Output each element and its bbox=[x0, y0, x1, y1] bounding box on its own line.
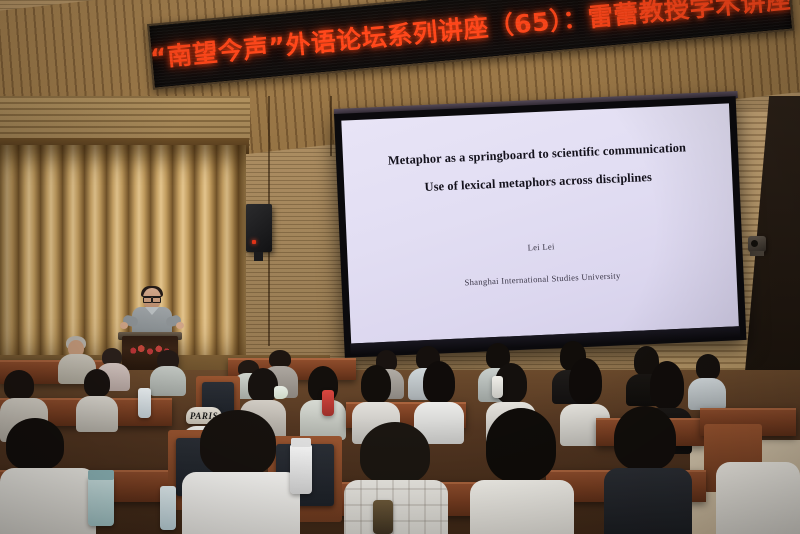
water-bottle bbox=[160, 486, 176, 530]
person-body bbox=[470, 480, 574, 534]
camera-mount-arm bbox=[750, 251, 764, 256]
slide-surface: Metaphor as a springboard to scientific … bbox=[341, 103, 739, 343]
person-hair bbox=[6, 418, 64, 470]
thermos-bottle bbox=[290, 444, 312, 494]
lecture-hall-photo: “南望今声”外语论坛系列讲座（65）：雷蕾教授学术讲座 Metaphor as … bbox=[0, 0, 800, 534]
person-hair bbox=[200, 410, 276, 476]
slide-title-line2: Use of lexical metaphors across discipli… bbox=[424, 170, 652, 195]
audience-person bbox=[0, 424, 96, 534]
person-body bbox=[182, 472, 300, 534]
glasses-icon bbox=[143, 296, 161, 301]
presenter-hand-left bbox=[120, 322, 128, 329]
face-mask-icon bbox=[274, 386, 288, 399]
water-bottle bbox=[88, 476, 114, 526]
speaker-status-led-icon bbox=[252, 240, 256, 244]
speaker-mount bbox=[254, 252, 263, 261]
water-bottle bbox=[492, 376, 503, 398]
drink-cup bbox=[373, 500, 393, 534]
audience-person bbox=[344, 436, 448, 534]
person-body bbox=[150, 366, 186, 396]
person-body bbox=[688, 378, 726, 410]
person-hair bbox=[614, 406, 676, 470]
audience-person bbox=[716, 434, 800, 534]
audience-person bbox=[470, 424, 574, 534]
slide-affiliation: Shanghai International Studies Universit… bbox=[464, 270, 621, 287]
audience-person bbox=[600, 420, 696, 534]
person-hair bbox=[361, 365, 391, 403]
person-body bbox=[604, 468, 692, 534]
bottle-cap bbox=[88, 470, 114, 480]
person-hair bbox=[4, 370, 34, 400]
audience-person bbox=[414, 366, 464, 434]
audience-person bbox=[688, 356, 726, 404]
person-body bbox=[716, 462, 800, 534]
audience-person bbox=[182, 430, 300, 534]
projection-screen: Metaphor as a springboard to scientific … bbox=[334, 96, 746, 358]
water-bottle bbox=[138, 388, 151, 418]
person-hair bbox=[569, 358, 602, 404]
wall-seam-2 bbox=[330, 96, 332, 156]
person-hair bbox=[84, 369, 110, 397]
red-bottle bbox=[322, 390, 334, 416]
bottle-cap bbox=[291, 438, 311, 447]
slide-author: Lei Lei bbox=[527, 241, 555, 252]
person-hair bbox=[696, 354, 720, 380]
person-hair bbox=[360, 422, 430, 484]
audience-person bbox=[150, 352, 186, 390]
person-body bbox=[0, 468, 96, 534]
camera-lens-icon bbox=[751, 240, 758, 247]
person-hair bbox=[650, 361, 684, 409]
person-hair bbox=[486, 408, 556, 482]
wall-speaker-icon bbox=[246, 204, 272, 252]
person-body bbox=[344, 480, 448, 534]
presenter-hand-right bbox=[176, 322, 184, 329]
person-hair bbox=[423, 361, 455, 403]
slide-title-line1: Metaphor as a springboard to scientific … bbox=[388, 139, 687, 169]
audience-person bbox=[76, 372, 118, 424]
